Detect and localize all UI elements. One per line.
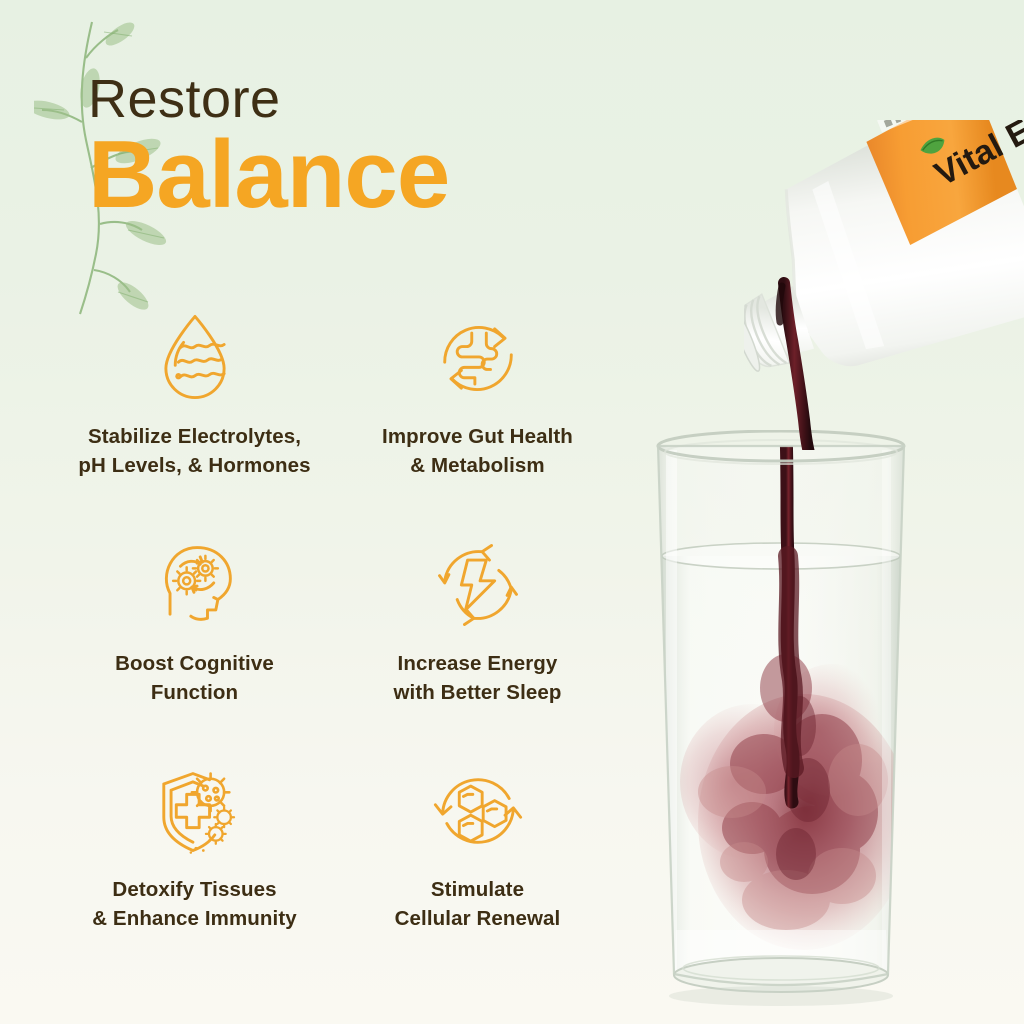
benefit-caption: Stimulate Cellular Renewal — [395, 875, 561, 933]
shield-cross-germ-icon — [143, 759, 247, 863]
water-drop-waves-icon — [143, 306, 247, 410]
product-bottle: Vital Earth — [744, 120, 1024, 450]
benefit-item-energy: Increase Energy with Better Sleep — [339, 527, 616, 754]
benefit-caption: Increase Energy with Better Sleep — [393, 649, 561, 707]
benefit-item-immunity: Detoxify Tissues & Enhance Immunity — [56, 753, 333, 980]
benefit-caption: Stabilize Electrolytes, pH Levels, & Hor… — [78, 422, 310, 480]
benefit-item-electrolytes: Stabilize Electrolytes, pH Levels, & Hor… — [56, 300, 333, 527]
benefit-caption: Improve Gut Health & Metabolism — [382, 422, 573, 480]
headline-line-1: Restore — [88, 72, 449, 126]
glass-of-water — [636, 430, 926, 1010]
gut-intestines-refresh-icon — [426, 306, 530, 410]
benefit-item-cellular-renewal: Stimulate Cellular Renewal — [339, 753, 616, 980]
headline-block: Restore Balance — [88, 72, 449, 222]
benefit-item-gut-health: Improve Gut Health & Metabolism — [339, 300, 616, 527]
honeycomb-cells-refresh-icon — [426, 759, 530, 863]
lightning-bolt-refresh-icon — [426, 533, 530, 637]
benefits-grid: Stabilize Electrolytes, pH Levels, & Hor… — [56, 300, 616, 980]
benefit-caption: Boost Cognitive Function — [115, 649, 274, 707]
headline-line-2: Balance — [88, 128, 449, 222]
head-gears-icon — [143, 533, 247, 637]
benefit-caption: Detoxify Tissues & Enhance Immunity — [92, 875, 297, 933]
product-marketing-image: Restore Balance Stabilize Electrolytes, … — [0, 0, 1024, 1024]
benefit-item-cognitive: Boost Cognitive Function — [56, 527, 333, 754]
